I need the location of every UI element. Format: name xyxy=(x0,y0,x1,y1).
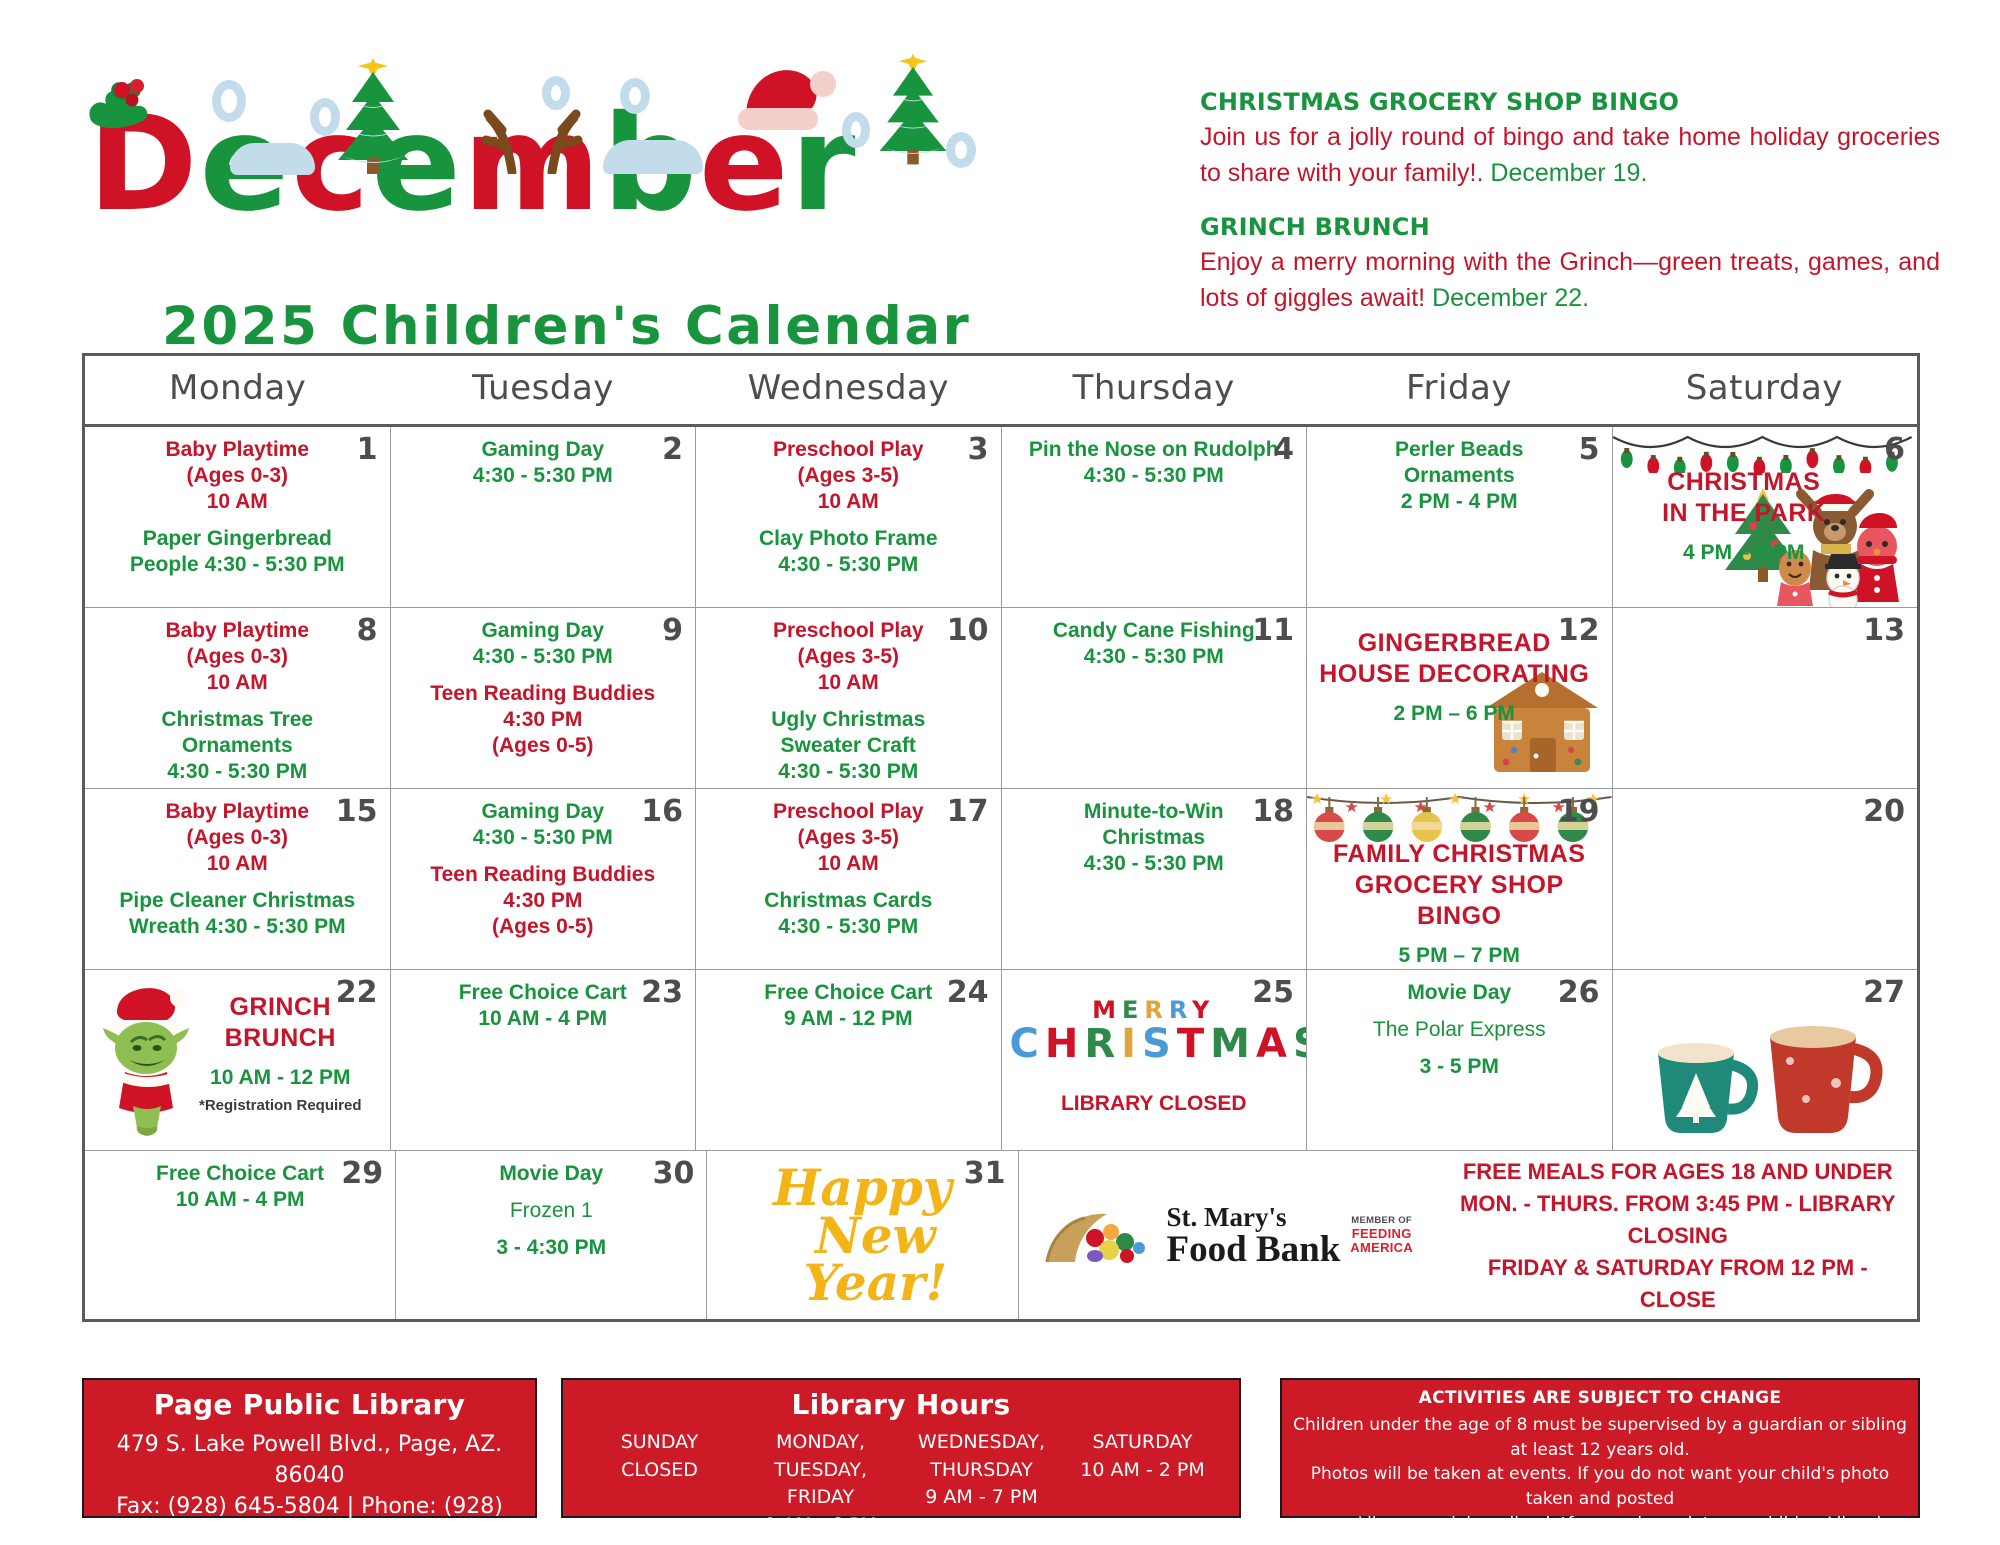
calendar-day-4[interactable]: 4Pin the Nose on Rudolph4:30 - 5:30 PM xyxy=(1002,427,1308,607)
announcement-grinch-heading: GRINCH BRUNCH xyxy=(1200,213,1940,241)
christmas-tree-icon-2 xyxy=(870,50,956,168)
event-line: Teen Reading Buddies xyxy=(430,682,655,705)
food-bank-block: St. Mary'sFood BankMEMBER OFFEEDINGAMERI… xyxy=(1027,1157,1910,1315)
event-entry: Teen Reading Buddies4:30 PM(Ages 0-5) xyxy=(399,862,688,940)
day-events: Baby Playtime(Ages 0-3)10 AMPaper Ginger… xyxy=(93,433,382,578)
event-line: 4:30 PM xyxy=(503,889,582,912)
event-line: Paper Gingerbread xyxy=(143,527,332,550)
event-entry: Preschool Play(Ages 3-5)10 AM xyxy=(704,437,993,515)
event-line: Movie Day xyxy=(499,1162,603,1185)
event-entry: GINGERBREADHOUSE DECORATING xyxy=(1315,628,1594,690)
event-entry: Teen Reading Buddies4:30 PM(Ages 0-5) xyxy=(399,681,688,759)
free-meals-text: FREE MEALS FOR AGES 18 AND UNDERMON. - T… xyxy=(1457,1156,1900,1315)
day-events: Baby Playtime(Ages 0-3)10 AMChristmas Tr… xyxy=(93,614,382,785)
calendar-day-18[interactable]: 18Minute-to-WinChristmas4:30 - 5:30 PM xyxy=(1002,789,1308,969)
event-line: 4:30 - 5:30 PM xyxy=(1084,464,1224,487)
badge-feeding: FEEDING xyxy=(1350,1227,1413,1242)
event-line: 10 AM xyxy=(207,671,268,694)
hours-col-mtf: MONDAY, TUESDAY, FRIDAY 9 AM - 6 PM xyxy=(740,1429,901,1539)
calendar-day-17[interactable]: 17Preschool Play(Ages 3-5)10 AMChristmas… xyxy=(696,789,1002,969)
event-line: Christmas Cards xyxy=(764,889,932,912)
event-entry: Clay Photo Frame4:30 - 5:30 PM xyxy=(704,526,993,578)
event-line: Frozen 1 xyxy=(510,1199,593,1222)
event-line: 4 PM – 8 PM xyxy=(1683,541,1804,564)
event-entry: Frozen 1 xyxy=(404,1198,698,1224)
event-line: Pin the Nose on Rudolph xyxy=(1029,438,1279,461)
hours-title: Library Hours xyxy=(573,1388,1229,1421)
day-number: 20 xyxy=(1863,794,1905,829)
day-number: 10 xyxy=(947,613,989,648)
event-entry: 5 PM – 7 PM*Registration Required xyxy=(1315,943,1604,969)
event-line: 10 AM - 12 PM xyxy=(210,1066,350,1089)
event-line: Gaming Day xyxy=(481,800,604,823)
library-address: 479 S. Lake Powell Blvd., Page, AZ. 8604… xyxy=(94,1429,525,1491)
calendar-day-24[interactable]: 24Free Choice Cart9 AM - 12 PM xyxy=(696,970,1002,1150)
event-line: (Ages 0-3) xyxy=(186,826,288,849)
event-line: Preschool Play xyxy=(773,800,924,823)
event-line: 5 PM – 7 PM xyxy=(1399,944,1520,967)
calendar-day-27[interactable]: 27 xyxy=(1613,970,1918,1150)
ornament-ring-icon-6 xyxy=(946,132,976,168)
event-entry: 3 - 5 PM xyxy=(1315,1054,1604,1080)
page-footer: Page Public Library 479 S. Lake Powell B… xyxy=(82,1378,1920,1518)
notice-line-2: Photos will be taken at events. If you d… xyxy=(1292,1462,1908,1511)
calendar-day-10[interactable]: 10Preschool Play(Ages 3-5)10 AMUgly Chri… xyxy=(696,608,1002,788)
title-letter-2: e xyxy=(200,98,292,230)
calendar-day-13[interactable]: 13 xyxy=(1613,608,1918,788)
event-line: 10 AM xyxy=(818,671,879,694)
event-line: Free Choice Cart xyxy=(156,1162,324,1185)
calendar-grid: Monday Tuesday Wednesday Thursday Friday… xyxy=(82,353,1920,1322)
food-bank-name-line2: Food Bank xyxy=(1167,1231,1341,1268)
event-entry: Baby Playtime(Ages 0-3)10 AM xyxy=(93,618,382,696)
event-line: Free Choice Cart xyxy=(764,981,932,1004)
event-entry: 3 - 4:30 PM xyxy=(404,1235,698,1261)
day-events: Pin the Nose on Rudolph4:30 - 5:30 PM xyxy=(1010,433,1299,489)
event-entry: Pipe Cleaner ChristmasWreath 4:30 - 5:30… xyxy=(93,888,382,940)
event-line: Ornaments xyxy=(182,734,293,757)
weekday-wednesday: Wednesday xyxy=(696,356,1001,424)
cocoa-mugs-icon xyxy=(1640,991,1890,1141)
event-entry: Paper GingerbreadPeople 4:30 - 5:30 PM xyxy=(93,526,382,578)
day-number: 13 xyxy=(1863,613,1905,648)
calendar-day-25[interactable]: 25MERRYCHRISTMASLIBRARY CLOSED xyxy=(1002,970,1308,1150)
day-number: 27 xyxy=(1863,975,1905,1010)
event-line: CHRISTMAS xyxy=(1667,468,1820,496)
event-entry: LIBRARY CLOSED xyxy=(1010,1091,1299,1117)
event-line: Sweater Craft xyxy=(781,734,916,757)
weekday-tuesday: Tuesday xyxy=(390,356,695,424)
event-line: Free Choice Cart xyxy=(459,981,627,1004)
event-line: Preschool Play xyxy=(773,438,924,461)
hours-col-mtf-time: 9 AM - 6 PM xyxy=(740,1512,901,1540)
calendar-day-1[interactable]: 1Baby Playtime(Ages 0-3)10 AMPaper Ginge… xyxy=(85,427,391,607)
event-line: Ornaments xyxy=(1404,464,1515,487)
announcement-grinch-date: December 22. xyxy=(1432,284,1589,312)
event-line: BRUNCH xyxy=(225,1024,336,1052)
title-letter-3: c xyxy=(291,98,371,230)
event-line: Movie Day xyxy=(1407,981,1511,1004)
event-line: (Ages 0-5) xyxy=(492,734,594,757)
calendar-day-22[interactable]: 22 GRINCHBRUNCH10 AM - 12 PM*Registratio… xyxy=(85,970,391,1150)
calendar-day-31[interactable]: 31HappyNew Year! xyxy=(707,1151,1018,1319)
event-line: LIBRARY CLOSED xyxy=(1061,1092,1247,1115)
title-letter-4: e xyxy=(371,98,463,230)
title-letter-7: e xyxy=(699,98,791,230)
library-contact: Fax: (928) 645-5804 | Phone: (928) 645-4… xyxy=(94,1491,525,1545)
event-line: Gaming Day xyxy=(481,438,604,461)
hours-col-mtf-days: MONDAY, TUESDAY, xyxy=(740,1429,901,1484)
calendar-day-8[interactable]: 8Baby Playtime(Ages 0-3)10 AMChristmas T… xyxy=(85,608,391,788)
calendar-day-3[interactable]: 3Preschool Play(Ages 3-5)10 AMClay Photo… xyxy=(696,427,1002,607)
announcement-grinch: GRINCH BRUNCH Enjoy a merry morning with… xyxy=(1200,213,1940,316)
footer-library-box: Page Public Library 479 S. Lake Powell B… xyxy=(82,1378,537,1518)
event-line: (Ages 0-5) xyxy=(492,915,594,938)
event-line: Clay Photo Frame xyxy=(759,527,938,550)
event-line: 4:30 - 5:30 PM xyxy=(473,826,613,849)
event-line: Candy Cane Fishing xyxy=(1053,619,1255,642)
weekday-header-row: Monday Tuesday Wednesday Thursday Friday… xyxy=(85,356,1917,427)
calendar-day-15[interactable]: 15Baby Playtime(Ages 0-3)10 AMPipe Clean… xyxy=(85,789,391,969)
event-line: 4:30 - 5:30 PM xyxy=(1084,645,1224,668)
cornucopia-icon xyxy=(1037,1198,1157,1274)
event-entry: Baby Playtime(Ages 0-3)10 AM xyxy=(93,437,382,515)
event-line: 3 - 4:30 PM xyxy=(496,1236,606,1259)
event-line: Pipe Cleaner Christmas xyxy=(119,889,355,912)
event-line: 4:30 - 5:30 PM xyxy=(778,553,918,576)
calendar-day-9[interactable]: 9Gaming Day4:30 - 5:30 PMTeen Reading Bu… xyxy=(391,608,697,788)
event-line: 10 AM xyxy=(818,852,879,875)
page-subtitle: 2025 Children's Calendar xyxy=(162,296,971,357)
hours-col-wt: WEDNESDAY, THURSDAY 9 AM - 7 PM xyxy=(901,1429,1062,1539)
day-number: 16 xyxy=(641,794,683,829)
calendar-weeks: 1Baby Playtime(Ages 0-3)10 AMPaper Ginge… xyxy=(85,427,1917,1319)
calendar-day-2[interactable]: 2Gaming Day4:30 - 5:30 PM xyxy=(391,427,697,607)
day-number: 9 xyxy=(662,613,683,648)
announcement-bingo-heading: CHRISTMAS GROCERY SHOP BINGO xyxy=(1200,88,1940,116)
event-line: 10 AM - 4 PM xyxy=(478,1007,607,1030)
event-line: 4:30 - 5:30 PM xyxy=(167,760,307,783)
calendar-week-row: 8Baby Playtime(Ages 0-3)10 AMChristmas T… xyxy=(85,608,1917,789)
event-line: (Ages 0-3) xyxy=(186,464,288,487)
title-letter-6: b xyxy=(602,98,699,230)
day-number: 24 xyxy=(947,975,989,1010)
day-number: 2 xyxy=(662,432,683,467)
event-line: 10 AM xyxy=(818,490,879,513)
hours-col-wt-time: 9 AM - 7 PM xyxy=(901,1484,1062,1512)
hours-col-wt-days: WEDNESDAY, xyxy=(901,1429,1062,1457)
event-line: (Ages 3-5) xyxy=(797,464,899,487)
day-number: 6 xyxy=(1884,432,1905,467)
calendar-day-26[interactable]: 26Movie DayThe Polar Express3 - 5 PM xyxy=(1307,970,1613,1150)
event-line: 4:30 - 5:30 PM xyxy=(778,760,918,783)
day-number: 1 xyxy=(357,432,378,467)
day-events: Perler BeadsOrnaments2 PM - 4 PM xyxy=(1315,433,1604,515)
event-line: 4:30 - 5:30 PM xyxy=(473,464,613,487)
hours-col-sunday-days2: CLOSED xyxy=(579,1457,740,1485)
event-line: Gaming Day xyxy=(481,619,604,642)
calendar-food-bank-cell[interactable]: St. Mary'sFood BankMEMBER OFFEEDINGAMERI… xyxy=(1019,1151,1918,1319)
event-line: Minute-to-Win xyxy=(1084,800,1224,823)
calendar-day-29[interactable]: 29Free Choice Cart10 AM - 4 PM xyxy=(85,1151,396,1319)
free-meals-line-1: FREE MEALS FOR AGES 18 AND UNDER xyxy=(1457,1156,1900,1188)
title-letter-5: m xyxy=(463,98,603,230)
notice-title: ACTIVITIES ARE SUBJECT TO CHANGE xyxy=(1292,1388,1908,1408)
announcement-bingo-date: December 19. xyxy=(1490,159,1647,187)
event-line: Baby Playtime xyxy=(165,800,309,823)
day-number: 29 xyxy=(341,1156,383,1191)
weekday-monday: Monday xyxy=(85,356,390,424)
hours-col-saturday-days: SATURDAY xyxy=(1062,1429,1223,1457)
page-header: December xyxy=(0,0,2000,345)
day-number: 19 xyxy=(1558,794,1600,829)
feeding-america-badge: MEMBER OFFEEDINGAMERICA xyxy=(1350,1216,1413,1257)
event-entry: Perler BeadsOrnaments2 PM - 4 PM xyxy=(1315,437,1604,515)
badge-member-of: MEMBER OF xyxy=(1351,1215,1412,1226)
event-entry: Christmas TreeOrnaments4:30 - 5:30 PM xyxy=(93,707,382,785)
announcement-bingo: CHRISTMAS GROCERY SHOP BINGO Join us for… xyxy=(1200,88,1940,191)
day-number: 11 xyxy=(1252,613,1294,648)
calendar-day-20[interactable]: 20 xyxy=(1613,789,1918,969)
footer-notice-box: ACTIVITIES ARE SUBJECT TO CHANGE Childre… xyxy=(1280,1378,1920,1518)
food-bank-name: St. Mary'sFood Bank xyxy=(1167,1204,1341,1268)
calendar-page: December xyxy=(0,0,2000,1545)
day-number: 15 xyxy=(336,794,378,829)
event-line: Baby Playtime xyxy=(165,438,309,461)
badge-america: AMERICA xyxy=(1350,1241,1413,1256)
event-line: 4:30 - 5:30 PM xyxy=(473,645,613,668)
hours-col-wt-days2: THURSDAY xyxy=(901,1457,1062,1485)
day-number: 30 xyxy=(653,1156,695,1191)
weekday-friday: Friday xyxy=(1306,356,1611,424)
event-line: Baby Playtime xyxy=(165,619,309,642)
event-line: HOUSE DECORATING xyxy=(1319,660,1589,688)
happy-new-year-wordart: HappyNew Year! xyxy=(773,1164,952,1307)
merry-christmas-line: CHRISTMAS xyxy=(1010,1023,1299,1065)
event-line: 4:30 - 5:30 PM xyxy=(1084,852,1224,875)
event-line: The Polar Express xyxy=(1373,1018,1546,1041)
event-line: 10 AM xyxy=(207,490,268,513)
footer-hours-box: Library Hours SUNDAY CLOSED MONDAY, TUES… xyxy=(561,1378,1241,1518)
weekday-thursday: Thursday xyxy=(1001,356,1306,424)
registration-note: *Registration Required xyxy=(179,1097,382,1116)
hours-col-mtf-days2: FRIDAY xyxy=(740,1484,901,1512)
event-line: Ugly Christmas xyxy=(771,708,925,731)
day-number: 18 xyxy=(1252,794,1294,829)
event-entry: Ugly ChristmasSweater Craft4:30 - 5:30 P… xyxy=(704,707,993,785)
title-letter-8: r xyxy=(790,98,857,230)
calendar-day-23[interactable]: 23Free Choice Cart10 AM - 4 PM xyxy=(391,970,697,1150)
day-number: 25 xyxy=(1252,975,1294,1010)
day-events: Gaming Day4:30 - 5:30 PMTeen Reading Bud… xyxy=(399,614,688,759)
event-line: Perler Beads xyxy=(1395,438,1523,461)
hours-col-saturday-days2: 10 AM - 2 PM xyxy=(1062,1457,1223,1485)
hours-col-sunday-days: SUNDAY xyxy=(579,1429,740,1457)
event-entry: CHRISTMASIN THE PARK xyxy=(1621,467,1868,529)
event-line: 4:30 PM xyxy=(503,708,582,731)
event-line: GRINCH xyxy=(229,993,331,1021)
event-line: People 4:30 - 5:30 PM xyxy=(130,553,345,576)
day-number: 3 xyxy=(968,432,989,467)
event-entry: Gaming Day4:30 - 5:30 PM xyxy=(399,437,688,489)
event-line: (Ages 3-5) xyxy=(797,826,899,849)
day-events: LIBRARY CLOSED xyxy=(1010,1083,1299,1117)
event-line: 10 AM xyxy=(207,852,268,875)
event-entry: The Polar Express xyxy=(1315,1017,1604,1043)
calendar-day-19[interactable]: 19 xyxy=(1307,789,1613,969)
event-line: IN THE PARK xyxy=(1662,499,1825,527)
day-number: 4 xyxy=(1273,432,1294,467)
notice-line-1: Children under the age of 8 must be supe… xyxy=(1292,1413,1908,1462)
food-bank-name-line1: St. Mary's xyxy=(1167,1204,1341,1231)
hours-col-saturday: SATURDAY 10 AM - 2 PM xyxy=(1062,1429,1223,1539)
event-entry: 4 PM – 8 PM xyxy=(1621,540,1868,566)
day-events: Preschool Play(Ages 3-5)10 AMClay Photo … xyxy=(704,433,993,578)
calendar-day-30[interactable]: 30Movie DayFrozen 13 - 4:30 PM xyxy=(396,1151,707,1319)
calendar-week-row: 29Free Choice Cart10 AM - 4 PM30Movie Da… xyxy=(85,1151,1917,1319)
calendar-week-row: 22 GRINCHBRUNCH10 AM - 12 PM*Registratio… xyxy=(85,970,1917,1151)
event-line: (Ages 0-3) xyxy=(186,645,288,668)
hours-grid: SUNDAY CLOSED MONDAY, TUESDAY, FRIDAY 9 … xyxy=(573,1429,1229,1539)
event-line: Wreath 4:30 - 5:30 PM xyxy=(129,915,346,938)
event-entry: FAMILY CHRISTMASGROCERY SHOP BINGO xyxy=(1315,839,1604,932)
sparkle-icon xyxy=(1010,1065,1299,1083)
event-entry: Gaming Day4:30 - 5:30 PM xyxy=(399,618,688,670)
calendar-day-12[interactable]: 12 GINGERBREADHOUSE DECORATING2 PM – 6 P… xyxy=(1307,608,1613,788)
day-number: 5 xyxy=(1579,432,1600,467)
hours-col-sunday: SUNDAY CLOSED xyxy=(579,1429,740,1539)
hny-line-1: Happy xyxy=(773,1164,952,1212)
calendar-day-11[interactable]: 11Candy Cane Fishing4:30 - 5:30 PM xyxy=(1002,608,1308,788)
calendar-week-row: 15Baby Playtime(Ages 0-3)10 AMPipe Clean… xyxy=(85,789,1917,970)
december-title-art: December xyxy=(80,28,1020,278)
day-number: 8 xyxy=(357,613,378,648)
event-entry: Pin the Nose on Rudolph4:30 - 5:30 PM xyxy=(1010,437,1299,489)
day-events: CHRISTMASIN THE PARK4 PM – 8 PM xyxy=(1621,433,1910,566)
calendar-day-6[interactable]: 6 xyxy=(1613,427,1918,607)
day-number: 26 xyxy=(1558,975,1600,1010)
page-title: December xyxy=(88,98,858,230)
event-line: (Ages 3-5) xyxy=(797,645,899,668)
event-entry: Christmas Cards4:30 - 5:30 PM xyxy=(704,888,993,940)
announcements: CHRISTMAS GROCERY SHOP BINGO Join us for… xyxy=(1200,88,1940,316)
weekday-saturday: Saturday xyxy=(1612,356,1917,424)
event-line: GINGERBREAD xyxy=(1358,629,1551,657)
announcement-grinch-body: Enjoy a merry morning with the Grinch—gr… xyxy=(1200,245,1940,316)
event-line: Christmas xyxy=(1102,826,1205,849)
event-line: 2 PM – 6 PM xyxy=(1394,702,1515,725)
calendar-day-16[interactable]: 16Gaming Day4:30 - 5:30 PMTeen Reading B… xyxy=(391,789,697,969)
free-meals-line-3: FRIDAY & SATURDAY FROM 12 PM - CLOSE xyxy=(1457,1252,1900,1316)
event-entry: 2 PM – 6 PM xyxy=(1315,701,1594,727)
calendar-week-row: 1Baby Playtime(Ages 0-3)10 AMPaper Ginge… xyxy=(85,427,1917,608)
day-number: 17 xyxy=(947,794,989,829)
event-entry: 10 AM - 12 PM*Registration Required xyxy=(179,1065,382,1116)
event-line: FAMILY CHRISTMAS xyxy=(1333,840,1585,868)
event-line: 9 AM - 12 PM xyxy=(784,1007,913,1030)
st-marys-food-bank-logo: St. Mary'sFood BankMEMBER OFFEEDINGAMERI… xyxy=(1037,1198,1457,1274)
event-line: 10 AM - 4 PM xyxy=(176,1188,305,1211)
event-line: Christmas Tree xyxy=(161,708,313,731)
hny-line-2: New Year! xyxy=(799,1211,952,1306)
library-name: Page Public Library xyxy=(94,1388,525,1421)
title-letter-1: D xyxy=(88,98,200,230)
day-number: 12 xyxy=(1558,613,1600,648)
free-meals-line-2: MON. - THURS. FROM 3:45 PM - LIBRARY CLO… xyxy=(1457,1188,1900,1252)
event-line: 2 PM - 4 PM xyxy=(1401,490,1518,513)
day-number: 31 xyxy=(964,1156,1006,1191)
event-line: 3 - 5 PM xyxy=(1420,1055,1499,1078)
day-number: 22 xyxy=(336,975,378,1010)
event-line: Teen Reading Buddies xyxy=(430,863,655,886)
event-line: Preschool Play xyxy=(773,619,924,642)
event-line: GROCERY SHOP BINGO xyxy=(1355,871,1564,930)
calendar-day-5[interactable]: 5Perler BeadsOrnaments2 PM - 4 PM xyxy=(1307,427,1613,607)
day-number: 23 xyxy=(641,975,683,1010)
event-line: 4:30 - 5:30 PM xyxy=(778,915,918,938)
notice-line-3: on our Library social media platforms, p… xyxy=(1292,1512,1908,1545)
day-events: Gaming Day4:30 - 5:30 PM xyxy=(399,433,688,489)
announcement-bingo-body: Join us for a jolly round of bingo and t… xyxy=(1200,120,1940,191)
